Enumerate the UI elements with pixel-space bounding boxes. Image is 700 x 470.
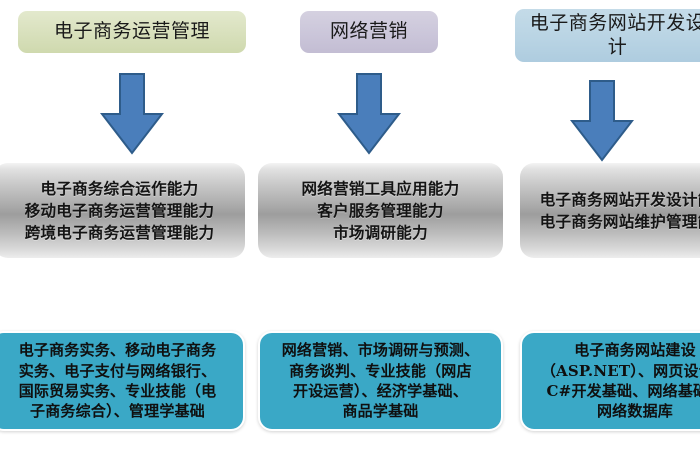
course-line: （ASP.NET）、网页设计、	[541, 361, 700, 381]
arrow-down-icon-column-1	[100, 73, 164, 155]
module-box-website-development[interactable]: 电子商务网站开发设计	[515, 9, 700, 62]
ability-box-column-1[interactable]: 电子商务综合运作能力 移动电子商务运营管理能力 跨境电子商务运营管理能力	[0, 163, 245, 258]
arrow-down-icon-column-2	[337, 73, 401, 155]
ability-box-column-2[interactable]: 网络营销工具应用能力 客户服务管理能力 市场调研能力	[258, 163, 503, 258]
module-label: 电子商务网站开发设计	[521, 12, 700, 58]
ability-line-list: 电子商务网站开发设计能力 电子商务网站维护管理能力	[540, 189, 700, 233]
course-line: 实务、电子支付与网络银行、	[19, 361, 217, 381]
course-line: 商品学基础	[282, 401, 480, 421]
course-line-list: 电子商务实务、移动电子商务 实务、电子支付与网络银行、 国际贸易实务、专业技能（…	[19, 340, 217, 422]
module-label: 电子商务运营管理	[54, 20, 210, 43]
course-line: 商务谈判、专业技能（网店	[282, 361, 480, 381]
course-line: 国际贸易实务、专业技能（电	[19, 381, 217, 401]
ability-line: 网络营销工具应用能力	[301, 178, 459, 200]
ability-line: 电子商务综合运作能力	[25, 178, 215, 200]
ability-line: 客户服务管理能力	[301, 200, 459, 222]
course-line: 子商务综合）、管理学基础	[19, 401, 217, 421]
ability-line: 电子商务网站维护管理能力	[540, 211, 700, 233]
course-line: 网络数据库	[541, 401, 700, 421]
module-box-ecommerce-operations[interactable]: 电子商务运营管理	[18, 11, 246, 53]
module-box-network-marketing[interactable]: 网络营销	[300, 11, 438, 53]
course-line: 开设运营）、经济学基础、	[282, 381, 480, 401]
course-box-column-2[interactable]: 网络营销、市场调研与预测、 商务谈判、专业技能（网店 开设运营）、经济学基础、 …	[258, 331, 503, 431]
course-box-column-1[interactable]: 电子商务实务、移动电子商务 实务、电子支付与网络银行、 国际贸易实务、专业技能（…	[0, 331, 245, 431]
course-line-list: 网络营销、市场调研与预测、 商务谈判、专业技能（网店 开设运营）、经济学基础、 …	[282, 340, 480, 422]
ability-line: 电子商务网站开发设计能力	[540, 189, 700, 211]
course-box-column-3[interactable]: 电子商务网站建设 （ASP.NET）、网页设计、 C#开发基础、网络基础、 网络…	[520, 331, 700, 431]
course-line-list: 电子商务网站建设 （ASP.NET）、网页设计、 C#开发基础、网络基础、 网络…	[541, 340, 700, 422]
arrow-down-icon-column-3	[570, 80, 634, 162]
course-line: 电子商务网站建设	[541, 340, 700, 360]
ability-line: 移动电子商务运营管理能力	[25, 200, 215, 222]
ability-line: 跨境电子商务运营管理能力	[25, 222, 215, 244]
course-line: 网络营销、市场调研与预测、	[282, 340, 480, 360]
diagram-canvas: 电子商务运营管理 网络营销 电子商务网站开发设计 电子商务综合运作能力 移动电子…	[0, 0, 700, 470]
ability-line-list: 网络营销工具应用能力 客户服务管理能力 市场调研能力	[301, 178, 459, 244]
module-label: 网络营销	[330, 20, 408, 43]
ability-line: 市场调研能力	[301, 222, 459, 244]
course-line: 电子商务实务、移动电子商务	[19, 340, 217, 360]
course-line: C#开发基础、网络基础、	[541, 381, 700, 401]
ability-box-column-3[interactable]: 电子商务网站开发设计能力 电子商务网站维护管理能力	[520, 163, 700, 258]
ability-line-list: 电子商务综合运作能力 移动电子商务运营管理能力 跨境电子商务运营管理能力	[25, 178, 215, 244]
